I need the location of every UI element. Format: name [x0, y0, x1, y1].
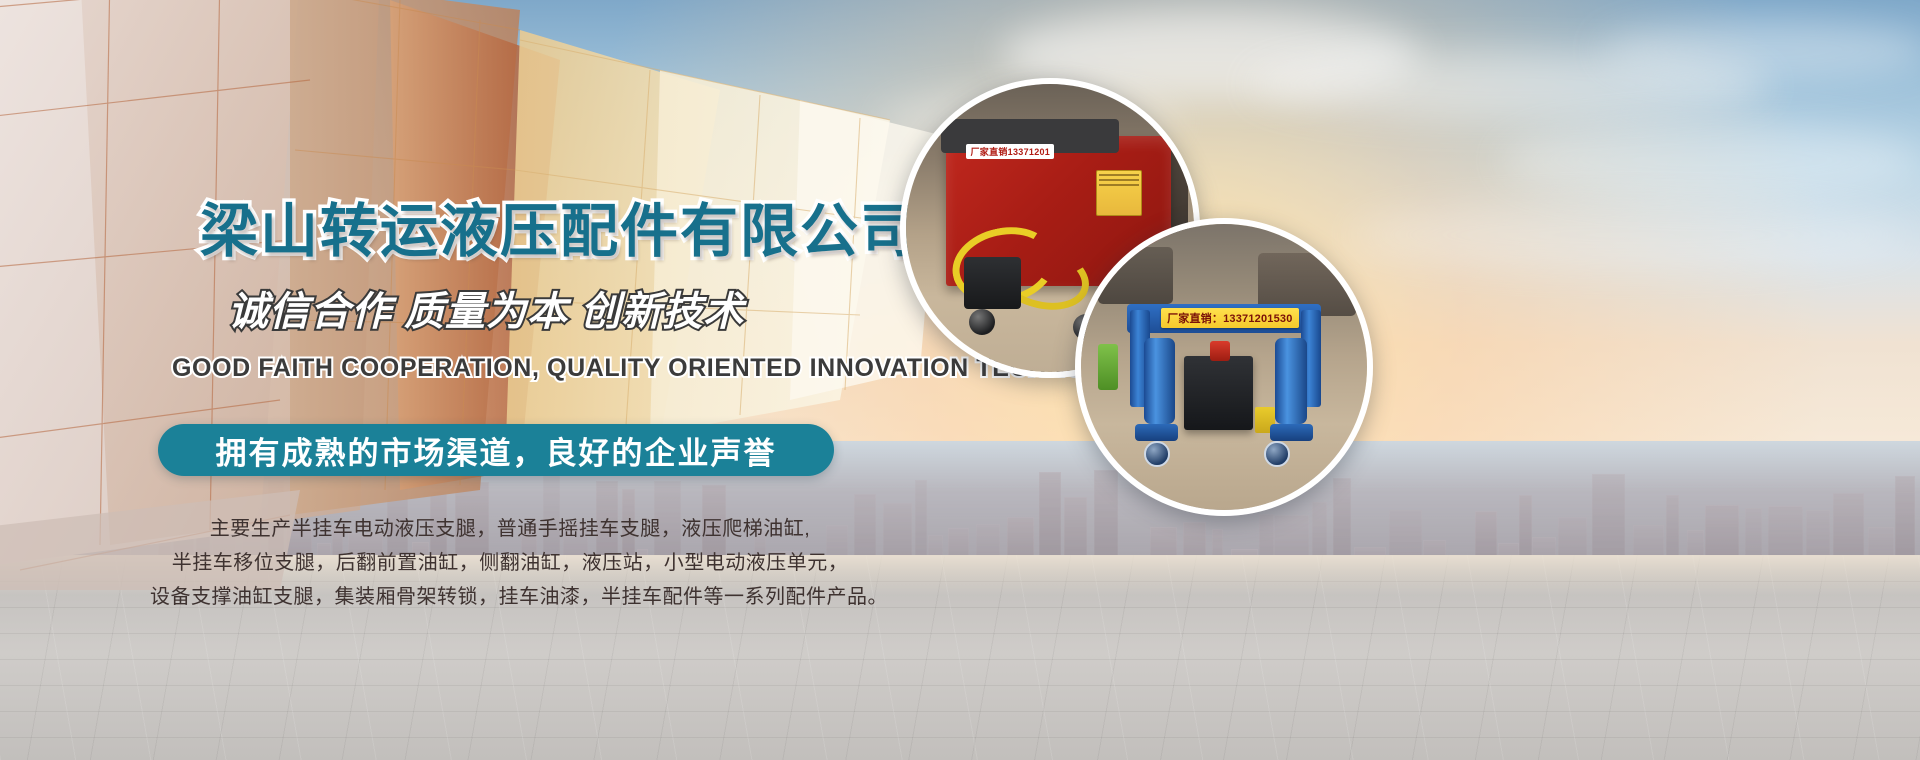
- description-block: 主要生产半挂车电动液压支腿，普通手摇挂车支腿，液压爬梯油缸, 半挂车移位支腿，后…: [150, 512, 870, 614]
- red-cap: [1210, 341, 1230, 361]
- sub-title: 诚信合作 质量为本 创新技术: [228, 288, 744, 336]
- red-machine-label: 厂家直销13371201: [966, 144, 1054, 159]
- hydraulic-cylinder: [1144, 338, 1175, 424]
- caster-wheel: [1264, 441, 1290, 467]
- hydraulic-cylinder: [1275, 338, 1306, 424]
- wheel: [969, 309, 995, 335]
- cloud-shape: [1600, 20, 1920, 80]
- base-foot: [1135, 424, 1178, 441]
- cloud-shape: [1350, 200, 1910, 270]
- page-title: 梁山转运液压配件有限公司: [200, 200, 920, 264]
- slogan-text: 拥有成熟的市场渠道，良好的企业声誉: [158, 424, 834, 476]
- blue-hydraulic-unit-photo: 厂家直销：13371201530: [1075, 218, 1373, 516]
- control-box: [1184, 356, 1253, 430]
- description-line-2: 半挂车移位支腿，后翻前置油缸，侧翻油缸，液压站，小型电动液压单元，: [150, 546, 870, 580]
- base-foot: [1270, 424, 1313, 441]
- slogan-pill: 拥有成熟的市场渠道，良好的企业声誉: [158, 424, 834, 476]
- description-line-3: 设备支撑油缸支腿，集装厢骨架转锁，挂车油漆，半挂车配件等一系列配件产品。: [150, 580, 870, 614]
- phone-number-sign: 厂家直销：13371201530: [1161, 308, 1299, 328]
- green-object: [1098, 344, 1118, 390]
- caster-wheel: [1144, 441, 1170, 467]
- banner-copy: 梁山转运液压配件有限公司 诚信合作 质量为本 创新技术 GOOD FAITH C…: [0, 0, 1010, 640]
- electric-motor: [964, 257, 1022, 309]
- workshop-clutter: [1098, 247, 1172, 304]
- warning-sticker: [1096, 170, 1142, 216]
- cloud-shape: [1500, 120, 1920, 200]
- hero-banner: 梁山转运液压配件有限公司 诚信合作 质量为本 创新技术 GOOD FAITH C…: [0, 0, 1920, 760]
- description-line-1: 主要生产半挂车电动液压支腿，普通手摇挂车支腿，液压爬梯油缸,: [150, 512, 870, 546]
